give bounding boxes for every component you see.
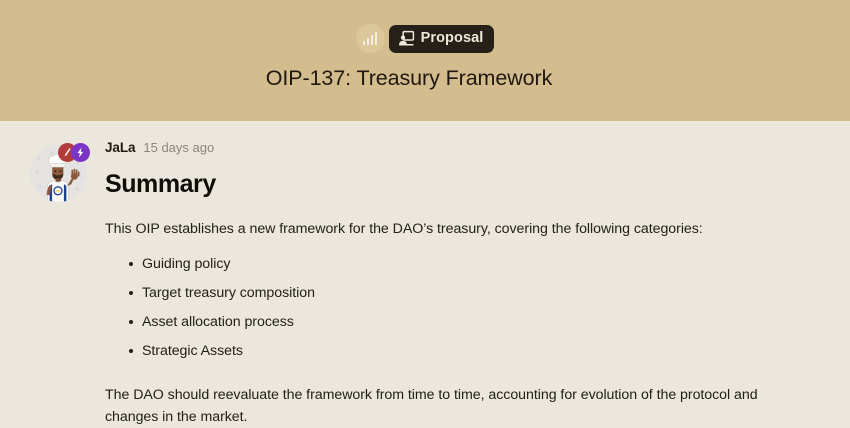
summary-heading: Summary	[105, 171, 810, 199]
proposal-badge-label: Proposal	[421, 31, 484, 46]
page-title: OIP-137: Treasury Framework	[0, 66, 850, 91]
list-item: Guiding policy	[142, 253, 810, 275]
author-name[interactable]: JaLa	[105, 140, 135, 155]
post-content: JaLa 15 days ago Summary This OIP establ…	[105, 121, 850, 428]
post-meta: JaLa 15 days ago	[105, 140, 810, 159]
signal-bars-glyph	[363, 32, 378, 45]
signal-bars-icon	[356, 24, 385, 53]
proposal-badge[interactable]: Proposal	[389, 25, 495, 53]
category-list: Guiding policy Target treasury compositi…	[105, 253, 810, 362]
page-header: Proposal OIP-137: Treasury Framework	[0, 0, 850, 121]
header-badge-row: Proposal	[0, 24, 850, 53]
lightning-badge[interactable]	[71, 143, 90, 162]
intro-paragraph: This OIP establishes a new framework for…	[105, 218, 810, 240]
presentation-person-icon	[398, 30, 415, 47]
list-item: Asset allocation process	[142, 311, 810, 333]
list-item: Strategic Assets	[142, 340, 810, 362]
list-item: Target treasury composition	[142, 282, 810, 304]
post-container: JaLa 15 days ago Summary This OIP establ…	[0, 121, 850, 428]
post-timestamp: 15 days ago	[143, 140, 214, 155]
closing-paragraph: The DAO should reevaluate the framework …	[105, 384, 810, 428]
avatar-group	[30, 145, 87, 202]
